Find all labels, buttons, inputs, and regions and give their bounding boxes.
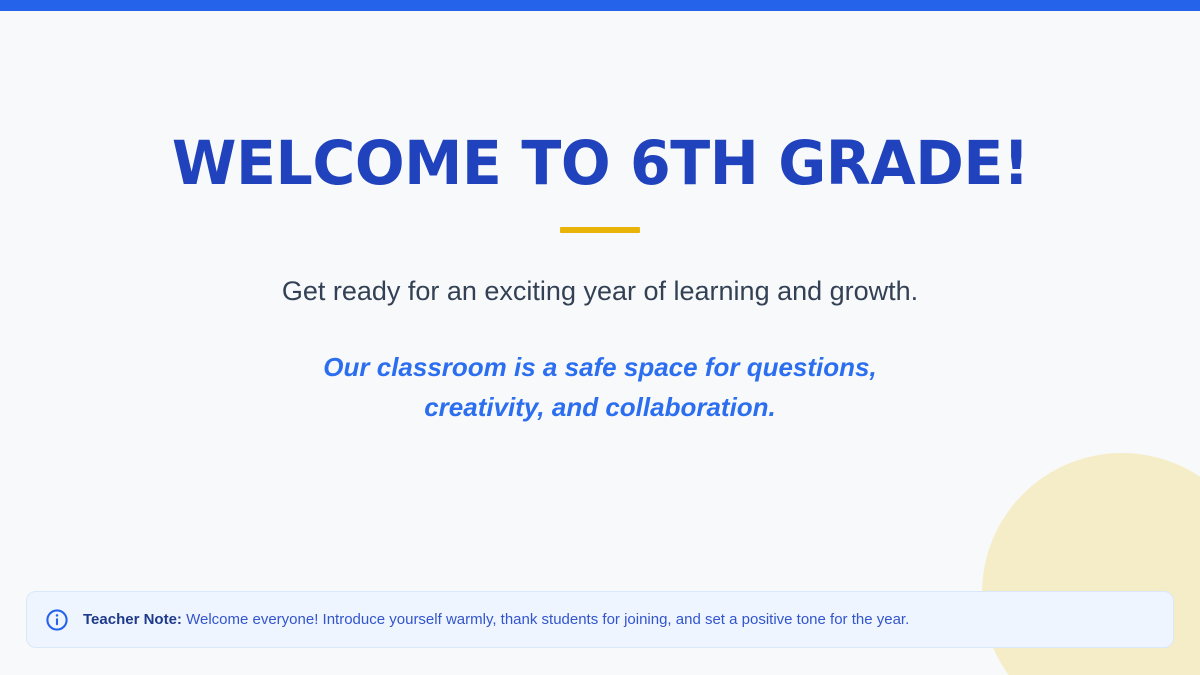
teacher-note-callout: Teacher Note: Welcome everyone! Introduc… [26,591,1174,648]
top-accent-bar [0,0,1200,11]
slide-subtitle: Get ready for an exciting year of learni… [282,273,918,309]
teacher-note-label: Teacher Note: [83,611,182,628]
slide-canvas: WELCOME TO 6TH GRADE! Get ready for an e… [0,0,1200,675]
teacher-note-body: Welcome everyone! Introduce yourself war… [186,611,909,628]
info-circle-icon [45,608,69,632]
slide-content: WELCOME TO 6TH GRADE! Get ready for an e… [0,0,1200,560]
slide-tagline: Our classroom is a safe space for questi… [280,347,920,428]
title-divider [560,227,640,233]
page-title: WELCOME TO 6TH GRADE! [171,132,1028,196]
teacher-note-text: Teacher Note: Welcome everyone! Introduc… [83,610,909,630]
